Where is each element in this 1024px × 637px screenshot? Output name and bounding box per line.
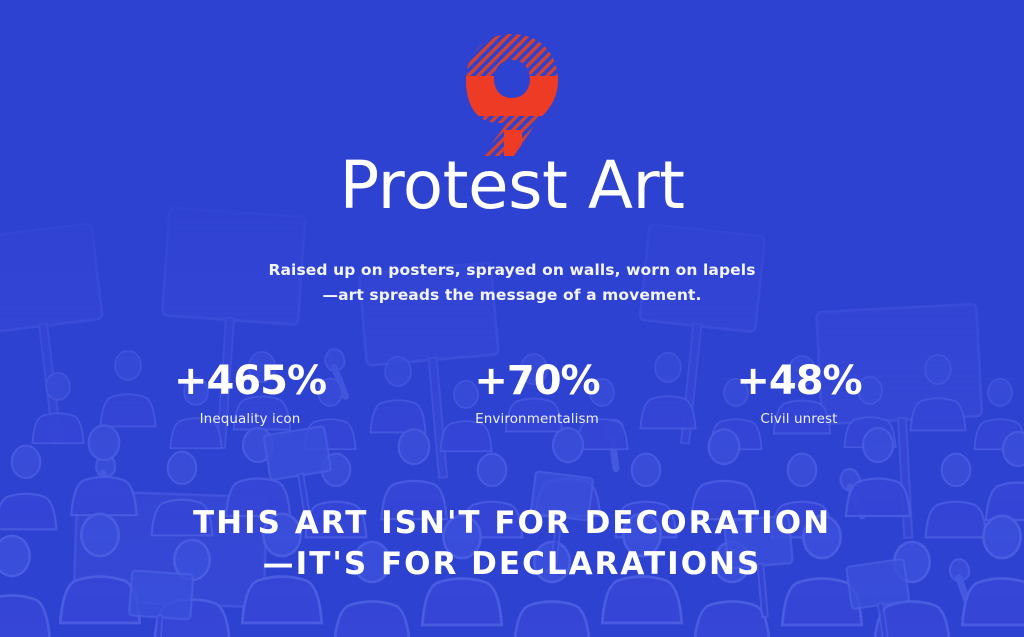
protest-art-poster: Protest Art Raised up on posters, spraye… — [0, 0, 1024, 637]
stat-item-inequality: +465% Inequality icon — [130, 360, 370, 427]
subtitle-line-1: Raised up on posters, sprayed on walls, … — [0, 258, 1024, 283]
headline-block: Protest Art — [0, 153, 1024, 219]
number-nine-graphic — [452, 30, 572, 160]
stat-label: Inequality icon — [130, 411, 370, 427]
subtitle-line-2: —art spreads the message of a movement. — [0, 283, 1024, 308]
declaration-line-1: THIS ART ISN'T FOR DECORATION — [0, 503, 1024, 544]
stat-label: Environmentalism — [437, 411, 637, 427]
declaration-line-2: —IT'S FOR DECLARATIONS — [0, 544, 1024, 585]
issue-number-badge — [0, 30, 1024, 160]
page-title: Protest Art — [0, 153, 1024, 219]
stat-value: +48% — [704, 360, 894, 402]
stat-item-civil-unrest: +48% Civil unrest — [704, 360, 894, 427]
stat-item-environmentalism: +70% Environmentalism — [437, 360, 637, 427]
declaration-statement: THIS ART ISN'T FOR DECORATION —IT'S FOR … — [0, 503, 1024, 585]
stat-value: +465% — [130, 360, 370, 402]
poster-subtitle: Raised up on posters, sprayed on walls, … — [0, 258, 1024, 308]
stat-value: +70% — [437, 360, 637, 402]
statistics-row: +465% Inequality icon +70% Environmental… — [130, 360, 894, 427]
stat-label: Civil unrest — [704, 411, 894, 427]
